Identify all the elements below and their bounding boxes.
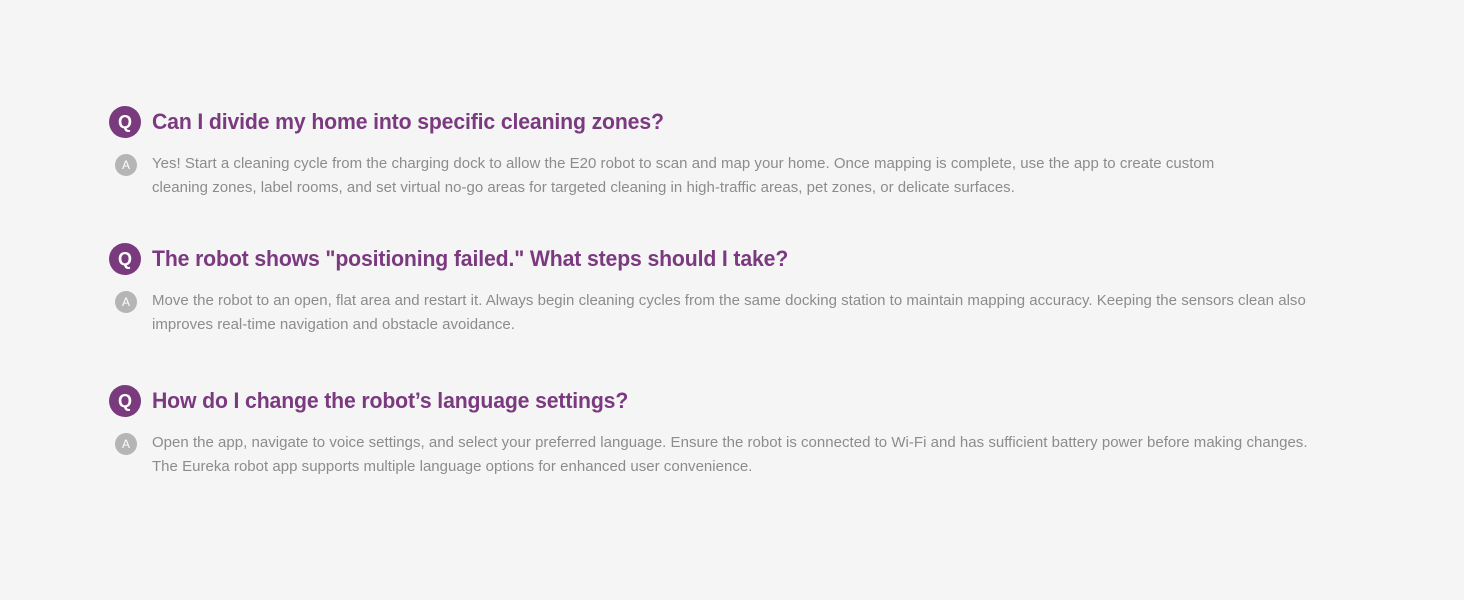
faq-question-text: Can I divide my home into specific clean… — [152, 106, 1418, 138]
faq-question-row[interactable]: Q How do I change the robot’s language s… — [109, 385, 1464, 417]
faq-question-row[interactable]: Q Can I divide my home into specific cle… — [109, 106, 1464, 138]
faq-question-text: How do I change the robot’s language set… — [152, 385, 1418, 417]
question-badge-icon: Q — [109, 106, 141, 138]
faq-item: Q Can I divide my home into specific cle… — [109, 106, 1464, 200]
faq-list: Q Can I divide my home into specific cle… — [109, 106, 1464, 479]
question-badge-icon: Q — [109, 243, 141, 275]
faq-answer-text: Open the app, navigate to voice settings… — [152, 431, 1337, 479]
faq-answer-text: Move the robot to an open, flat area and… — [152, 289, 1337, 337]
faq-question-row[interactable]: Q The robot shows "positioning failed." … — [109, 243, 1464, 275]
faq-question-text: The robot shows "positioning failed." Wh… — [152, 243, 1418, 275]
faq-answer-row: A Move the robot to an open, flat area a… — [109, 289, 1464, 337]
faq-answer-row: A Open the app, navigate to voice settin… — [109, 431, 1464, 479]
faq-item: Q The robot shows "positioning failed." … — [109, 243, 1464, 337]
faq-answer-text: Yes! Start a cleaning cycle from the cha… — [152, 152, 1222, 200]
faq-item: Q How do I change the robot’s language s… — [109, 385, 1464, 479]
answer-badge-icon: A — [115, 433, 137, 455]
answer-badge-icon: A — [115, 291, 137, 313]
faq-page: Q Can I divide my home into specific cle… — [0, 0, 1464, 600]
answer-badge-icon: A — [115, 154, 137, 176]
question-badge-icon: Q — [109, 385, 141, 417]
faq-answer-row: A Yes! Start a cleaning cycle from the c… — [109, 152, 1464, 200]
